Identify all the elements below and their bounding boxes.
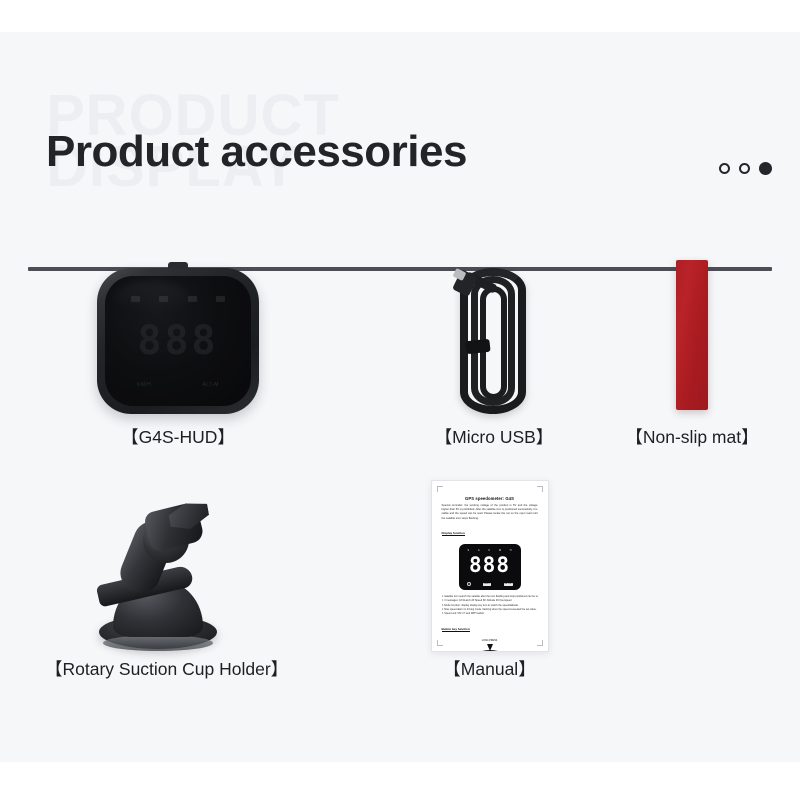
hud-indicator-4-icon	[216, 296, 225, 302]
product-row-1: 888 KM/H ALT-M 【G4S-HUD】	[0, 248, 800, 480]
hud-unit-right: ALT-M	[203, 382, 219, 388]
product-item-rotary-suction-cup-holder[interactable]: 【Rotary Suction Cup Holder】	[45, 480, 285, 655]
manual-corner-mark-br	[537, 640, 543, 646]
caption-manual: 【Manual】	[372, 656, 607, 681]
manual-hud-units: KM/H ALT-M	[467, 582, 513, 586]
manual-hud-indicator-1: S	[468, 549, 470, 552]
manual-hud-illustration: S A K M H 888 KM/H ALT-M	[459, 544, 521, 590]
page-title: Product accessories	[46, 127, 467, 177]
usb-cable-tie	[465, 339, 490, 354]
diagram-button-curve	[471, 650, 509, 652]
manual-hud-digits: 888	[459, 555, 521, 576]
non-slip-mat-strip	[676, 260, 708, 410]
product-item-g4s-hud[interactable]: 888 KM/H ALT-M 【G4S-HUD】	[58, 248, 298, 423]
manual-section-display: Display function	[442, 531, 465, 537]
page-header: PRODUCT DISPLAY Product accessories	[0, 32, 800, 242]
manual-corner-mark-tl	[437, 486, 443, 492]
manual-page: GPS speedometer: G4S Special reminder: t…	[431, 480, 549, 652]
hud-screen-gloss	[114, 281, 190, 315]
non-slip-mat-image	[604, 248, 780, 423]
caption-micro-usb: 【Micro USB】	[378, 424, 610, 449]
hud-body: 888 KM/H ALT-M	[97, 268, 259, 414]
pagination-dots[interactable]	[719, 162, 772, 175]
manual-step-5: 5. Speed unit: KM / H and MPH switch.	[442, 612, 538, 616]
product-item-non-slip-mat[interactable]: 【Non-slip mat】	[604, 248, 780, 423]
pagination-dot-3-active[interactable]	[759, 162, 772, 175]
product-row-2: 【Rotary Suction Cup Holder】 GPS speedome…	[0, 480, 800, 712]
manual-intro-paragraph: Special reminder: the working voltage of…	[442, 504, 538, 521]
hud-screen: 888 KM/H ALT-M	[105, 276, 251, 406]
manual-hud-unit-right: ALT-M	[504, 583, 513, 586]
pagination-dot-2[interactable]	[739, 163, 750, 174]
hud-unit-left: KM/H	[137, 382, 151, 388]
product-grid: 888 KM/H ALT-M 【G4S-HUD】	[0, 248, 800, 712]
manual-corner-mark-tr	[537, 486, 543, 492]
manual-hud-satellite-icon	[467, 582, 471, 586]
g4s-hud-image: 888 KM/H ALT-M	[58, 248, 298, 423]
usb-cable	[446, 256, 542, 416]
hud-unit-labels: KM/H ALT-M	[137, 382, 219, 388]
suction-cup-holder-image	[45, 480, 285, 655]
product-item-manual[interactable]: GPS speedometer: G4S Special reminder: t…	[372, 480, 607, 655]
hud-device: 888 KM/H ALT-M	[97, 262, 259, 414]
pagination-dot-1[interactable]	[719, 163, 730, 174]
manual-step-list: 1. Satellite icon search the satellite a…	[442, 595, 538, 617]
suction-cup-holder	[85, 486, 245, 651]
caption-non-slip-mat: 【Non-slip mat】	[604, 424, 780, 449]
manual-section-button: Button key function	[442, 627, 470, 633]
caption-rotary-suction-cup-holder: 【Rotary Suction Cup Holder】	[45, 656, 285, 681]
diagram-top-label: LONG PRESS	[452, 639, 528, 642]
manual-corner-mark-bl	[437, 640, 443, 646]
caption-g4s-hud: 【G4S-HUD】	[58, 424, 298, 449]
manual-hud-indicator-4: M	[499, 549, 501, 552]
holder-base-rim	[103, 635, 213, 651]
manual-title: GPS speedometer: G4S	[442, 496, 538, 501]
manual-image: GPS speedometer: G4S Special reminder: t…	[372, 480, 607, 655]
micro-usb-image	[378, 248, 610, 423]
manual-hud-indicator-3: K	[488, 549, 490, 552]
manual-hud-unit-left: KM/H	[483, 583, 491, 586]
manual-hud-indicator-2: A	[478, 549, 480, 552]
manual-hud-indicator-5: H	[510, 549, 512, 552]
hud-digits: 888	[105, 318, 251, 364]
product-display-page: PRODUCT DISPLAY Product accessories	[0, 0, 800, 800]
manual-hud-indicators: S A K M H	[468, 549, 512, 552]
product-item-micro-usb[interactable]: 【Micro USB】	[378, 248, 610, 423]
manual-button-diagram: LONG PRESS SET OUT MODE BUTTON	[452, 639, 528, 652]
